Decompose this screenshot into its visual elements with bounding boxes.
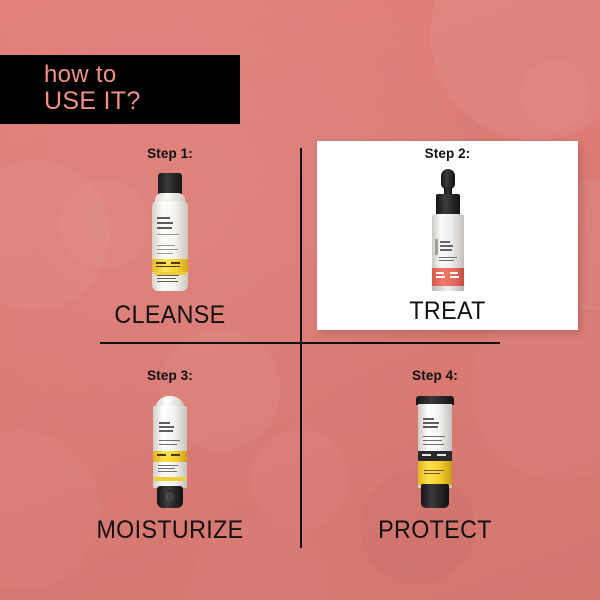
step-3-product-stage [60,393,280,508]
title-line-use-it: USE IT? [44,86,141,116]
label-line [158,465,180,474]
moisturizer-tube-icon [149,396,191,508]
label-line [157,275,181,284]
step-cell-treat[interactable]: Step 2: TREAT [325,146,570,326]
serum-dropper-bottle-icon [428,169,468,291]
brand-mark [440,241,456,252]
label-line [439,257,458,262]
quadrant-divider-vertical [300,148,302,548]
label-line [157,253,173,254]
yellow-bar [154,477,186,481]
tube-cap [421,484,449,508]
sunscreen-tube-icon [412,396,458,508]
dark-info-band [418,451,452,461]
side-text [435,239,438,255]
step-4-product-stage [325,393,545,508]
label-line [423,436,446,448]
label-line [157,234,179,235]
band-text [436,272,460,280]
brand-mark [159,422,177,434]
quadrant-divider-horizontal [100,342,500,344]
step-cell-cleanse[interactable]: Step 1: CLEANSE [60,146,280,330]
step-2-name: TREAT [334,297,562,326]
bottle-base [432,286,464,291]
how-to-use-it-poster: how to USE IT? Step 1: CLEANS [0,0,600,600]
brand-mark [423,418,442,430]
dropper-bulb [441,169,455,189]
step-4-name: PROTECT [333,516,538,545]
dropper-collar [436,194,460,216]
label-line [159,440,181,448]
step-2-product-stage [325,171,570,291]
band-text [156,262,182,268]
step-cell-protect[interactable]: Step 4: PROTECT [325,368,545,545]
step-1-product-stage [60,171,280,291]
brand-mark [157,217,177,230]
tube-cap [157,486,183,508]
label-line [157,245,175,246]
step-1-name: CLEANSE [68,301,273,330]
step-4-label: Step 4: [325,368,545,383]
band-text [157,454,182,459]
title-banner: how to USE IT? [0,55,240,124]
step-cell-moisturize[interactable]: Step 3: MOISTURIZE [60,368,280,545]
step-2-label: Step 2: [325,146,570,161]
bottle-cap [158,173,182,195]
step-3-name: MOISTURIZE [68,516,273,545]
title-line-how-to: how to [44,61,117,89]
band-text [424,470,446,475]
step-1-label: Step 1: [60,146,280,161]
step-3-label: Step 3: [60,368,280,383]
label-line [157,249,178,250]
cleanser-bottle-icon [150,173,190,291]
